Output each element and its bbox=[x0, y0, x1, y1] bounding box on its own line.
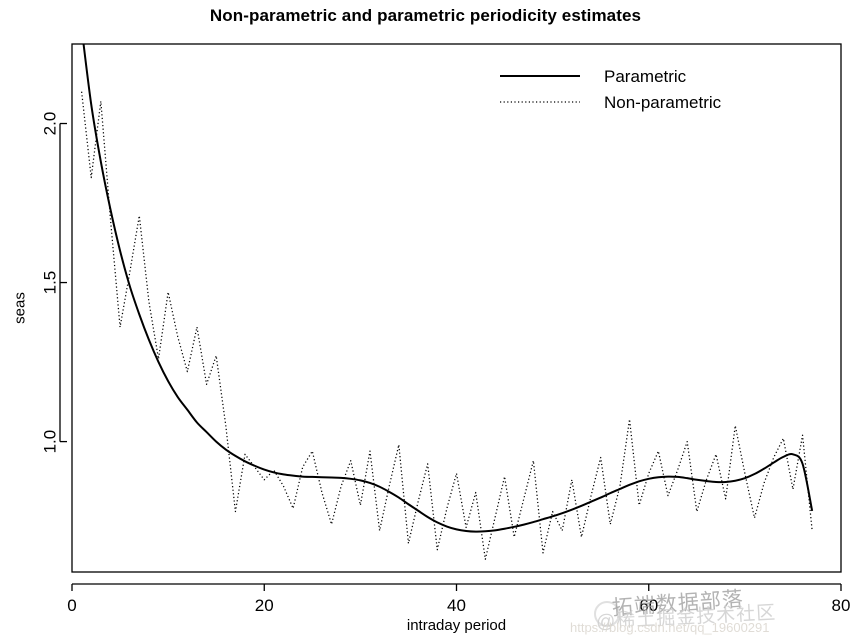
series-non-parametric bbox=[82, 92, 813, 560]
x-tick-label: 60 bbox=[639, 596, 658, 615]
y-tick-label: 2.0 bbox=[41, 112, 60, 136]
chart-screenshot: Non-parametric and parametric periodicit… bbox=[0, 0, 851, 641]
y-tick-label: 1.5 bbox=[41, 271, 60, 295]
y-axis-title: seas bbox=[12, 292, 29, 324]
x-tick-label: 20 bbox=[255, 596, 274, 615]
y-tick-label: 1.0 bbox=[41, 430, 60, 454]
x-axis: 020406080 bbox=[67, 584, 850, 615]
x-tick-label: 80 bbox=[832, 596, 851, 615]
chart-legend: ParametricNon-parametric bbox=[500, 67, 722, 112]
x-tick-label: 0 bbox=[67, 596, 76, 615]
periodicity-chart: 020406080 1.01.52.0 ParametricNon-parame… bbox=[0, 0, 851, 641]
axis-titles: intraday periodseas bbox=[12, 292, 507, 634]
x-axis-title: intraday period bbox=[407, 617, 506, 634]
legend-label: Non-parametric bbox=[604, 93, 722, 112]
plot-frame bbox=[72, 44, 841, 572]
legend-label: Parametric bbox=[604, 67, 687, 86]
x-tick-label: 40 bbox=[447, 596, 466, 615]
y-axis: 1.01.52.0 bbox=[41, 112, 68, 454]
